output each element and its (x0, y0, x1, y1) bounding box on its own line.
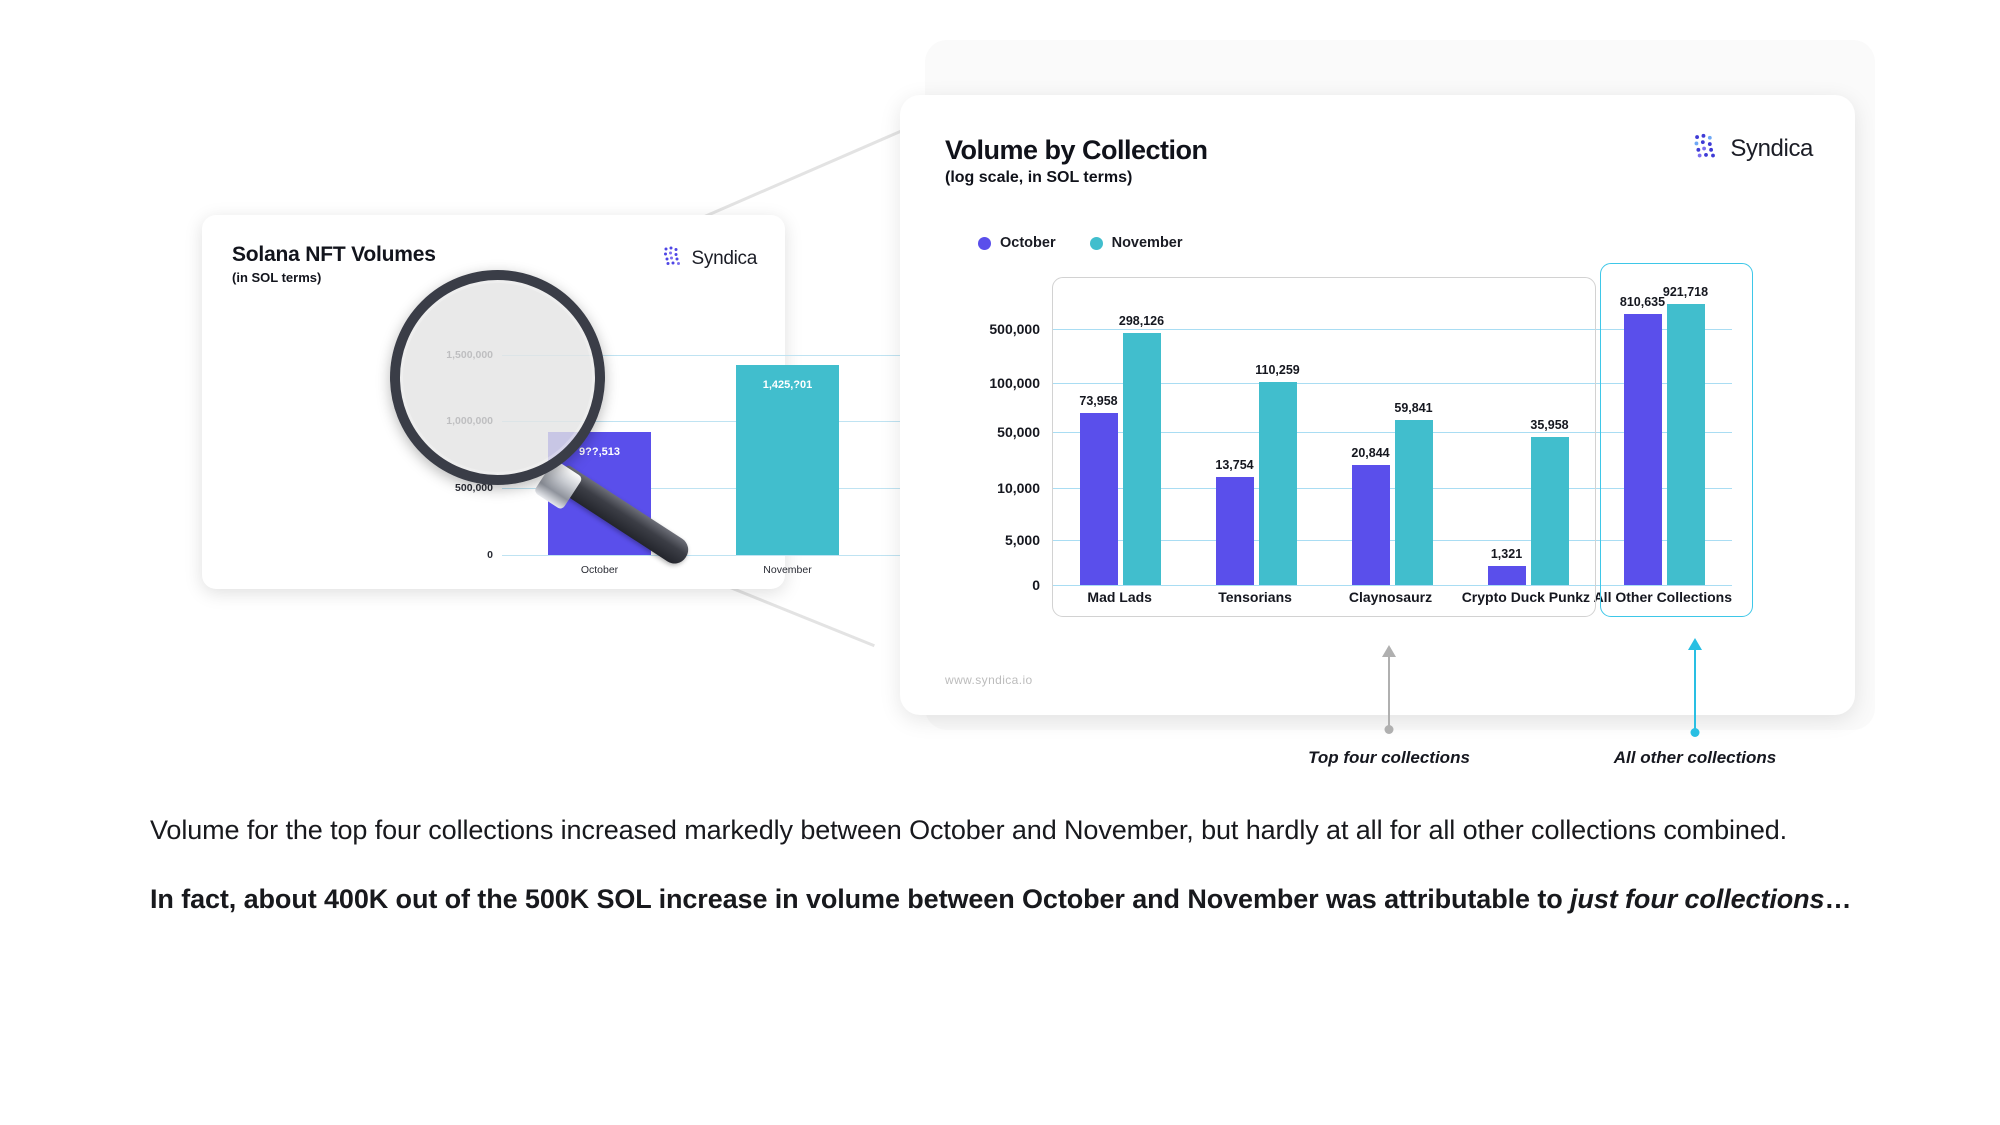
x-label-mad-lads: Mad Lads (1052, 589, 1187, 605)
x-label-claynosaurz: Claynosaurz (1323, 589, 1458, 605)
big-chart-card: Volume by Collection (log scale, in SOL … (900, 95, 1855, 715)
big-card-title: Volume by Collection (945, 135, 1208, 166)
y-tick-label: 500,000 (989, 321, 1040, 337)
small-card-brand: Syndica (662, 245, 758, 272)
x-axis-line (1052, 585, 1732, 586)
bar-value-label: 298,126 (1119, 314, 1164, 328)
bar-value-label: 59,841 (1394, 401, 1432, 415)
small-card-subtitle: (in SOL terms) (232, 270, 321, 285)
small-card-title: Solana NFT Volumes (232, 243, 436, 267)
legend-item-october[interactable]: October (978, 235, 1056, 251)
top-four-annotation-label: Top four collections (1308, 748, 1470, 768)
x-label-tensorians: Tensorians (1187, 589, 1322, 605)
bar-november[interactable]: 110,259 (1259, 382, 1297, 585)
small-y-tick-label: 0 (487, 549, 493, 561)
small-bar-label: October (548, 564, 651, 576)
y-tick-label: 0 (1032, 577, 1040, 593)
paragraph-two-lead: In fact, about 400K out of the 500K SOL … (150, 884, 1570, 914)
syndica-logo-icon (662, 245, 684, 272)
slide-canvas: Solana NFT Volumes (in SOL terms) Syndic… (0, 0, 2000, 1125)
all-other-annotation-arrow-icon (1688, 638, 1702, 650)
legend-item-november[interactable]: November (1090, 235, 1183, 251)
x-label-all-other-collections: All Other Collections (1594, 589, 1732, 605)
small-bar-value: 1,425,?01 (736, 379, 839, 391)
bar-value-label: 35,958 (1530, 418, 1568, 432)
chart-plot-area: 500,000 100,000 50,000 10,000 5,000 0 73… (1052, 275, 1732, 585)
small-bar-label: November (736, 564, 839, 576)
bar-value-label: 73,958 (1079, 394, 1117, 408)
paragraph-two-emphasis: just four collections (1570, 884, 1824, 914)
bar-october[interactable]: 13,754 (1216, 477, 1254, 585)
syndica-logo-icon (1692, 132, 1720, 165)
bar-october[interactable]: 1,321 (1488, 566, 1526, 585)
body-copy: Volume for the top four collections incr… (150, 810, 1880, 921)
bar-value-label: 810,635 (1620, 295, 1665, 309)
bar-group-all-other-collections: 810,635 921,718 (1596, 275, 1732, 585)
bar-value-label: 110,259 (1255, 363, 1300, 377)
bar-november[interactable]: 35,958 (1531, 437, 1569, 585)
bar-november[interactable]: 59,841 (1395, 420, 1433, 585)
small-bar-november[interactable]: 1,425,?01 November (736, 365, 839, 555)
bar-group-crypto-duck-punkz: 1,321 35,958 (1460, 275, 1596, 585)
y-tick-label: 100,000 (989, 375, 1040, 391)
y-tick-label: 5,000 (1005, 532, 1040, 548)
bar-value-label: 1,321 (1491, 547, 1522, 561)
bar-november[interactable]: 298,126 (1123, 333, 1161, 585)
y-tick-label: 50,000 (997, 424, 1040, 440)
all-other-annotation-line (1694, 648, 1696, 732)
bar-october[interactable]: 810,635 (1624, 314, 1662, 585)
small-gridline: 0 (502, 555, 917, 556)
bar-groups: 73,958 298,126 13,754 110,259 (1052, 275, 1732, 585)
y-tick-label: 10,000 (997, 480, 1040, 496)
bar-value-label: 13,754 (1215, 458, 1253, 472)
bar-november[interactable]: 921,718 (1667, 304, 1705, 585)
legend-label: October (1000, 235, 1056, 251)
paragraph-one: Volume for the top four collections incr… (150, 810, 1880, 852)
bar-group-claynosaurz: 20,844 59,841 (1324, 275, 1460, 585)
magnifying-glass-icon (390, 270, 605, 485)
bar-october[interactable]: 20,844 (1352, 465, 1390, 585)
big-card-brand-name: Syndica (1730, 135, 1813, 163)
bar-group-tensorians: 13,754 110,259 (1188, 275, 1324, 585)
bar-october[interactable]: 73,958 (1080, 413, 1118, 585)
legend-label: November (1112, 235, 1183, 251)
top-four-annotation-dot-icon (1385, 725, 1394, 734)
footer-url: www.syndica.io (945, 673, 1033, 687)
big-card-subtitle: (log scale, in SOL terms) (945, 169, 1132, 187)
bar-value-label: 921,718 (1663, 285, 1708, 299)
bar-value-label: 20,844 (1351, 446, 1389, 460)
all-other-annotation-dot-icon (1691, 728, 1700, 737)
paragraph-two: In fact, about 400K out of the 500K SOL … (150, 879, 1880, 921)
big-card-brand: Syndica (1692, 132, 1813, 165)
legend-swatch-icon (1090, 237, 1103, 250)
top-four-annotation-line (1388, 655, 1390, 729)
bar-group-mad-lads: 73,958 298,126 (1052, 275, 1188, 585)
all-other-annotation-label: All other collections (1614, 748, 1776, 768)
x-label-crypto-duck-punkz: Crypto Duck Punkz (1458, 589, 1593, 605)
small-card-brand-name: Syndica (692, 248, 758, 270)
legend-swatch-icon (978, 237, 991, 250)
top-four-annotation-arrow-icon (1382, 645, 1396, 657)
paragraph-two-tail: … (1824, 884, 1851, 914)
chart-legend: October November (978, 235, 1183, 251)
x-axis-labels: Mad Lads Tensorians Claynosaurz Crypto D… (1052, 589, 1732, 605)
